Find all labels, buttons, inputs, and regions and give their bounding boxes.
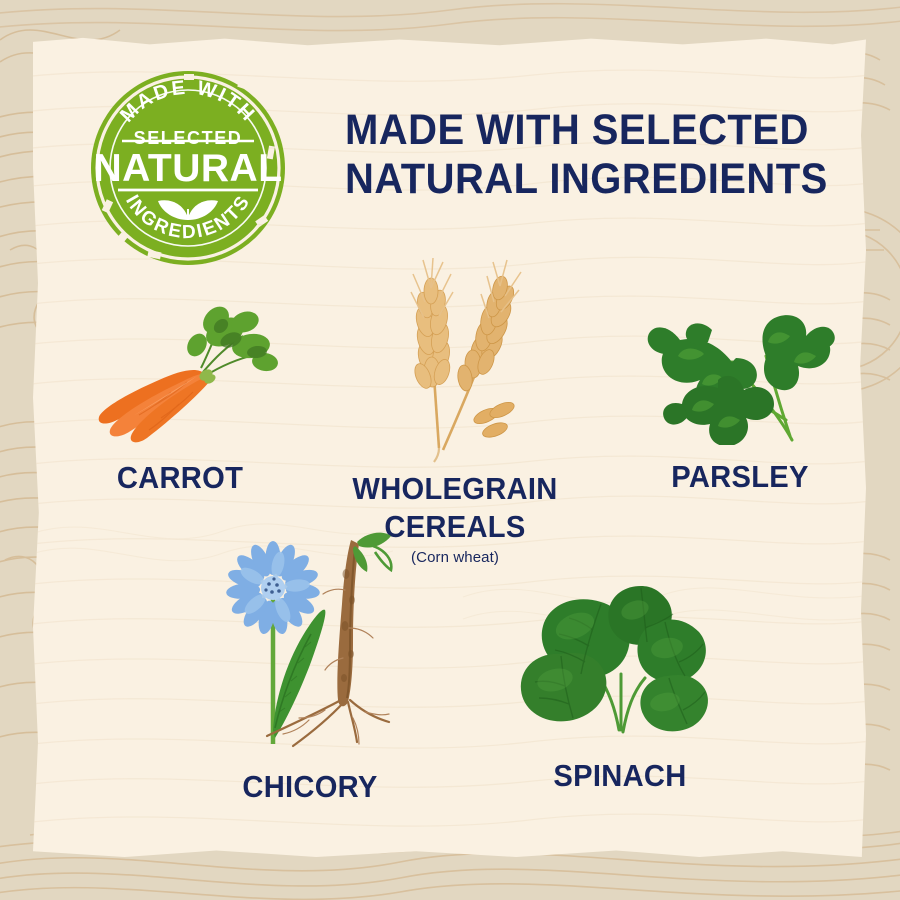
wheat-icon <box>355 258 555 463</box>
ingredient-chicory: CHICORY <box>165 530 455 804</box>
ingredient-carrot: CARROT <box>40 300 320 495</box>
page-title: MADE WITH SELECTED NATURAL INGREDIENTS <box>345 106 782 204</box>
wheat-illustration <box>330 258 580 468</box>
headline-line-2: NATURAL INGREDIENTS <box>345 155 782 204</box>
carrot-illustration <box>40 300 320 455</box>
parsley-leaf-right <box>762 315 834 390</box>
badge-selected-text: SELECTED <box>134 128 243 148</box>
parsley-icon <box>640 300 840 445</box>
ingredient-label-cereals-line1: WHOLEGRAIN <box>338 472 573 506</box>
wheat-grains <box>472 399 517 440</box>
spinach-icon <box>515 580 725 740</box>
ingredient-label-spinach: SPINACH <box>488 759 751 793</box>
ingredient-parsley: PARSLEY <box>600 300 880 494</box>
chicory-flower <box>225 541 320 636</box>
parsley-illustration <box>600 300 880 450</box>
promo-card: MADE WITH INGREDIENTS SELECTED NATURAL <box>0 0 900 900</box>
spinach-illustration <box>480 580 760 745</box>
badge-seal-icon: MADE WITH INGREDIENTS SELECTED NATURAL <box>88 68 288 268</box>
ingredient-label-chicory: CHICORY <box>174 770 447 804</box>
ingredient-label-carrot: CARROT <box>48 461 311 495</box>
ingredient-spinach: SPINACH <box>480 580 760 793</box>
ingredient-cereals: WHOLEGRAIN CEREALS (Corn wheat) <box>330 258 580 566</box>
natural-ingredients-badge: MADE WITH INGREDIENTS SELECTED NATURAL <box>88 68 288 268</box>
parsley-leaf-bottom <box>663 376 774 445</box>
carrot-icon <box>75 300 285 450</box>
ingredient-label-parsley: PARSLEY <box>608 460 871 494</box>
chicory-illustration <box>165 530 455 760</box>
badge-natural-text: NATURAL <box>93 147 282 190</box>
headline-line-1: MADE WITH SELECTED <box>345 106 782 155</box>
wheat-stalk-left <box>411 258 453 448</box>
chicory-icon <box>205 530 415 755</box>
